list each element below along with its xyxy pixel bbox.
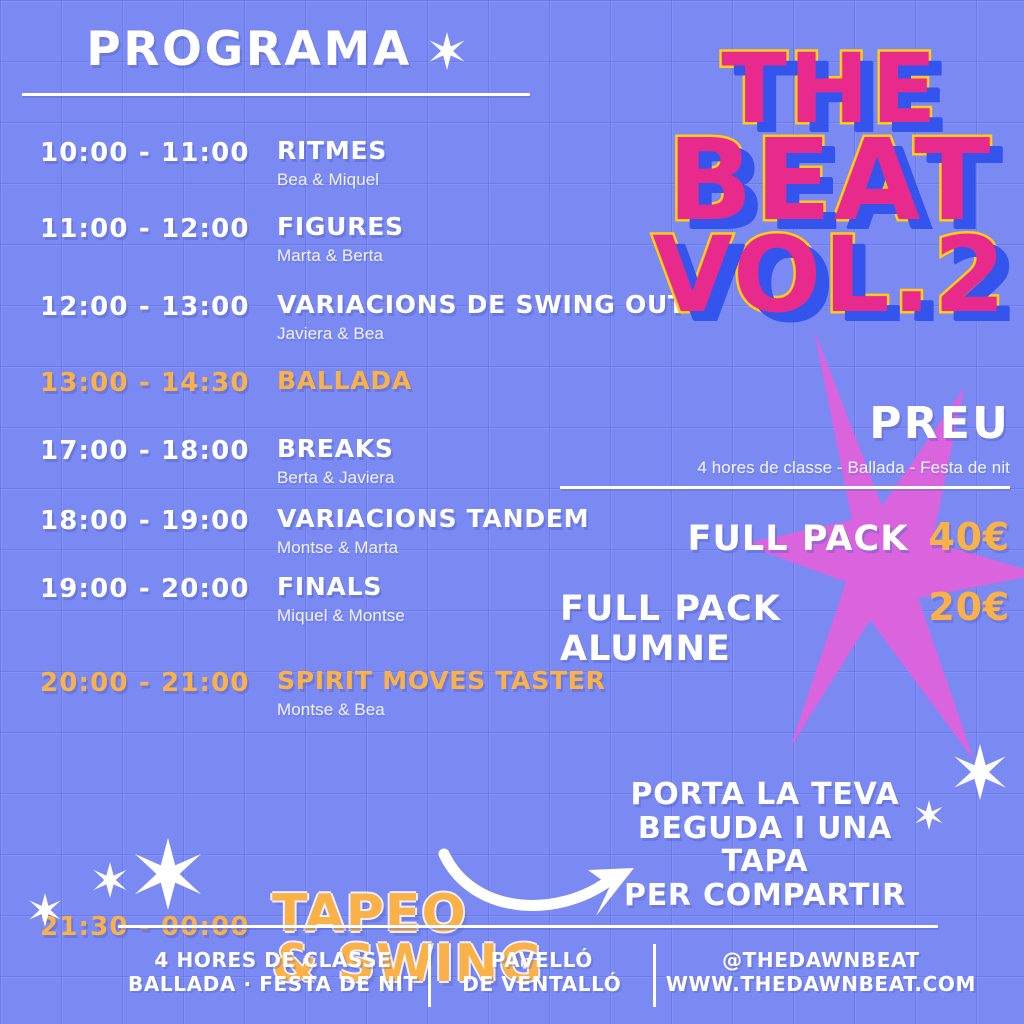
- footer-venue-line-2: DE VENTALLÓ: [441, 972, 643, 996]
- schedule-time: 19:00 - 20:00: [40, 574, 250, 604]
- bring-your-own-message: PORTA LA TEVA BEGUDA I UNA TAPA PER COMP…: [600, 778, 930, 912]
- schedule-time: 11:00 - 12:00: [40, 214, 250, 244]
- price-row: FULL PACK 40€: [560, 515, 1010, 559]
- schedule-teachers: Bea & Miquel: [277, 170, 379, 190]
- schedule-teachers: Miquel & Montse: [277, 606, 405, 626]
- schedule-teachers: Marta & Berta: [277, 246, 383, 266]
- footer-column-details: 4 HORES DE CLASSE BALLADA · FESTA DE NIT: [118, 944, 428, 1007]
- schedule-title: FINALS: [277, 572, 382, 601]
- schedule-title: FIGURES: [277, 212, 404, 241]
- footer-details-line-1: 4 HORES DE CLASSE: [128, 948, 418, 972]
- byo-line-1: PORTA LA TEVA: [600, 778, 930, 812]
- footer-column-contact[interactable]: @THEDAWNBEAT WWW.THEDAWNBEAT.COM: [656, 944, 986, 1007]
- event-logo: THE BEAT VOL.2: [650, 48, 1010, 320]
- schedule-title: BREAKS: [277, 434, 394, 463]
- price-value: 40€: [928, 515, 1010, 559]
- schedule-title: RITMES: [277, 136, 387, 165]
- schedule-row: 12:00 - 13:00 VARIACIONS DE SWING OUT Ja…: [0, 286, 640, 362]
- price-section: PREU 4 hores de classe - Ballada - Festa…: [560, 402, 1010, 669]
- page-title: PROGRAMA: [86, 26, 412, 73]
- schedule-time: 20:00 - 21:00: [40, 668, 250, 698]
- preu-divider: [560, 486, 1010, 489]
- price-row: FULL PACK ALUMNE 20€: [560, 585, 1010, 669]
- footer-details-line-2: BALLADA · FESTA DE NIT: [128, 972, 418, 996]
- byo-line-2: BEGUDA I UNA TAPA: [600, 812, 930, 879]
- schedule-row: 10:00 - 11:00 RITMES Bea & Miquel: [0, 132, 640, 208]
- schedule-time: 12:00 - 13:00: [40, 292, 250, 322]
- footer-column-venue: PAVELLÓ DE VENTALLÓ: [428, 944, 656, 1007]
- schedule-title: SPIRIT MOVES TASTER: [277, 666, 606, 695]
- schedule-time: 18:00 - 19:00: [40, 506, 250, 536]
- schedule-row: 18:00 - 19:00 VARIACIONS TANDEM Montse &…: [0, 500, 640, 576]
- six-point-star-icon: [428, 32, 466, 70]
- programa-header: PROGRAMA: [22, 26, 530, 96]
- schedule-row: 17:00 - 18:00 BREAKS Berta & Javiera: [0, 430, 640, 506]
- schedule-teachers: Javiera & Bea: [277, 324, 384, 344]
- schedule-teachers: Montse & Bea: [277, 700, 385, 720]
- schedule-row-tapeo: 21:30 - 00:00 TAPEO & SWING: [0, 772, 640, 902]
- programa-title-row: PROGRAMA: [22, 26, 530, 73]
- byo-line-3: PER COMPARTIR: [600, 879, 930, 913]
- preu-title: PREU: [560, 402, 1010, 446]
- schedule-row: 11:00 - 12:00 FIGURES Marta & Berta: [0, 208, 640, 284]
- price-label: FULL PACK: [687, 519, 908, 559]
- footer-columns: 4 HORES DE CLASSE BALLADA · FESTA DE NIT…: [118, 944, 938, 1007]
- schedule-time: 13:00 - 14:30: [40, 368, 250, 398]
- footer-social-handle[interactable]: @THEDAWNBEAT: [666, 948, 976, 972]
- price-value: 20€: [928, 585, 1010, 629]
- poster-canvas: PROGRAMA 10:00 - 11:00 RITMES Bea & Miqu…: [0, 0, 1024, 1024]
- price-label: FULL PACK ALUMNE: [560, 589, 908, 669]
- programa-divider: [22, 93, 530, 96]
- logo-line-vol2: VOL.2: [650, 231, 1010, 320]
- schedule-time: 17:00 - 18:00: [40, 436, 250, 466]
- footer-website-url[interactable]: WWW.THEDAWNBEAT.COM: [666, 972, 976, 996]
- footer-venue-line-1: PAVELLÓ: [441, 948, 643, 972]
- footer: 4 HORES DE CLASSE BALLADA · FESTA DE NIT…: [118, 925, 938, 1007]
- schedule-time: 10:00 - 11:00: [40, 138, 250, 168]
- schedule-teachers: Berta & Javiera: [277, 468, 395, 488]
- six-point-star-icon: [952, 744, 1008, 800]
- schedule-title: VARIACIONS DE SWING OUT: [277, 290, 686, 319]
- schedule-row-spirit-moves: 20:00 - 21:00 SPIRIT MOVES TASTER Montse…: [0, 662, 640, 738]
- schedule-row: 19:00 - 20:00 FINALS Miquel & Montse: [0, 568, 640, 644]
- schedule-row-ballada: 13:00 - 14:30 BALLADA: [0, 362, 640, 438]
- preu-subtitle: 4 hores de classe - Ballada - Festa de n…: [560, 458, 1010, 478]
- footer-divider: [118, 925, 938, 928]
- schedule-title: BALLADA: [277, 366, 412, 395]
- schedule-teachers: Montse & Marta: [277, 538, 398, 558]
- schedule-title: VARIACIONS TANDEM: [277, 504, 589, 533]
